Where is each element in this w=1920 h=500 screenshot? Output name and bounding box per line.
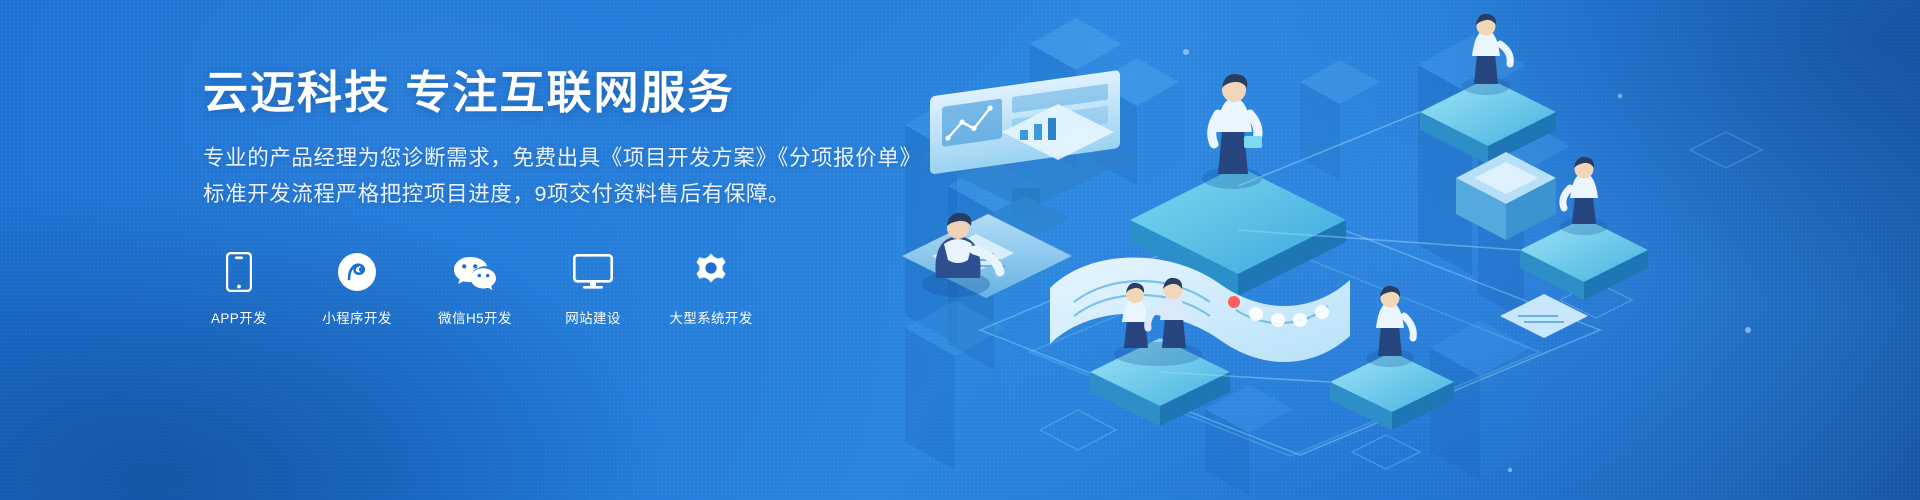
monitor-icon [573, 250, 613, 294]
service-label-app: APP开发 [211, 307, 267, 327]
service-label-wechat: 微信H5开发 [438, 307, 512, 327]
platform-box-right [1456, 152, 1556, 240]
service-item-wechat[interactable]: 微信H5开发 [439, 250, 511, 327]
page-title: 云迈科技 专注互联网服务 [203, 66, 923, 119]
hero-content: 云迈科技 专注互联网服务 专业的产品经理为您诊断需求，免费出具《项目开发方案》《… [203, 66, 923, 327]
person-upper-right [1462, 14, 1510, 95]
gear-icon [691, 250, 731, 294]
wechat-icon [452, 250, 498, 294]
subtitle-line-2: 标准开发流程严格把控项目进度，9项交付资料售后有保障。 [203, 176, 923, 212]
person-standing-center [1202, 74, 1262, 189]
service-label-system: 大型系统开发 [669, 307, 752, 327]
subtitle-line-1: 专业的产品经理为您诊断需求，免费出具《项目开发方案》《分项报价单》 [203, 140, 923, 176]
service-icon-row: APP开发 小程序开发 [203, 250, 923, 327]
hero-banner: 云迈科技 专注互联网服务 专业的产品经理为您诊断需求，免费出具《项目开发方案》《… [0, 0, 1920, 500]
data-scroll [1050, 257, 1350, 362]
hero-subtitle: 专业的产品经理为您诊断需求，免费出具《项目开发方案》《分项报价单》 标准开发流程… [203, 140, 923, 212]
service-label-website: 网站建设 [565, 307, 621, 327]
mobile-phone-icon [226, 250, 252, 294]
service-item-system[interactable]: 大型系统开发 [675, 250, 747, 327]
isometric-illustration [860, 0, 1920, 500]
desktop-monitor [920, 70, 1134, 240]
floating-tablet [1500, 294, 1588, 338]
service-label-miniprogram: 小程序开发 [322, 307, 392, 327]
person-mid-right [1560, 157, 1608, 235]
mini-program-icon [337, 250, 377, 294]
service-item-app[interactable]: APP开发 [203, 250, 275, 327]
service-item-website[interactable]: 网站建设 [557, 250, 629, 327]
service-item-miniprogram[interactable]: 小程序开发 [321, 250, 393, 327]
